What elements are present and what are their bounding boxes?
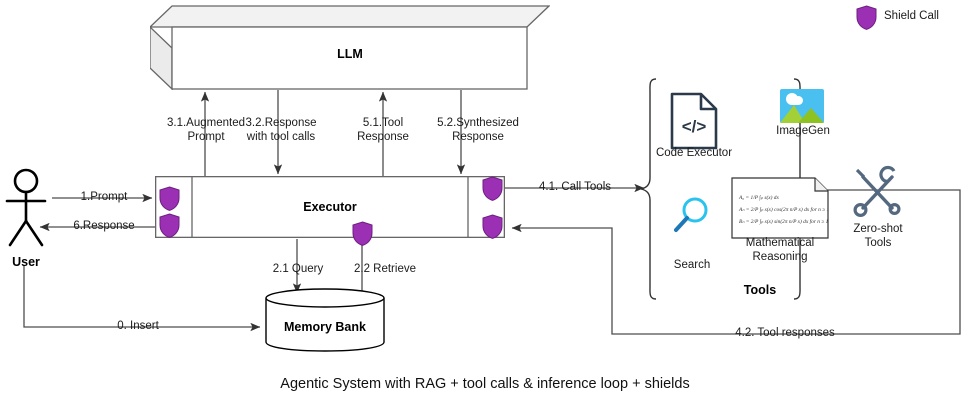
- edge-label-response: 6.Response: [52, 219, 156, 233]
- edge-label-tool-response: 5.1.Tool Response: [337, 116, 429, 144]
- diagram-caption: Agentic System with RAG + tool calls & i…: [0, 376, 970, 392]
- formula-document-icon: A₀ = 1/P ∫ₚ s(x) dx Aₙ = 2/P ∫ₚ s(x) cos…: [731, 177, 829, 244]
- edge-label-tool-responses: 4.2. Tool responses: [660, 326, 910, 340]
- tool-label-zero-shot-tools: Zero-shot Tools: [838, 222, 918, 250]
- legend-shield-label: Shield Call: [884, 10, 939, 22]
- shield-icon: [159, 186, 180, 216]
- tool-label-code-executor: Code Executor: [648, 146, 740, 160]
- shield-icon: [482, 176, 503, 206]
- shield-icon: [159, 213, 180, 243]
- svg-text:Bₙ = 2/P ∫ₚ s(x) sin(2π n/P x): Bₙ = 2/P ∫ₚ s(x) sin(2π n/P x) dx for n …: [739, 218, 829, 225]
- edge-label-call-tools: 4.1. Call Tools: [516, 180, 634, 194]
- llm-label: LLM: [150, 47, 550, 61]
- edge-label-prompt: 1.Prompt: [58, 190, 150, 204]
- magnifier-icon: [672, 196, 710, 241]
- crossed-tools-icon: [850, 165, 904, 224]
- edge-label-synthesized-response: 5.2.Synthesized Response: [420, 116, 536, 144]
- edge-label-insert: 0. Insert: [78, 319, 198, 333]
- shield-icon: [856, 5, 877, 35]
- user-label: User: [0, 255, 52, 269]
- user-actor: [4, 168, 60, 248]
- edge-label-response-tool-calls: 3.2.Response with tool calls: [228, 116, 334, 144]
- memory-bank-label: Memory Bank: [265, 320, 385, 334]
- shield-icon: [482, 214, 503, 244]
- executor-label: Executor: [190, 200, 470, 214]
- image-icon: [780, 89, 824, 128]
- tool-label-math-reasoning: Mathematical Reasoning: [722, 236, 838, 264]
- tools-group-label: Tools: [700, 283, 820, 297]
- edge-label-retrieve: 2.2 Retrieve: [330, 262, 440, 276]
- svg-text:A₀ = 1/P ∫ₚ s(x) dx: A₀ = 1/P ∫ₚ s(x) dx: [738, 194, 779, 201]
- shield-icon: [352, 221, 373, 251]
- svg-text:Aₙ = 2/P ∫ₚ s(x) cos(2π n/P x): Aₙ = 2/P ∫ₚ s(x) cos(2π n/P x) dx for n …: [738, 206, 829, 213]
- diagram-canvas: LLM Executor Memory Bank: [0, 0, 970, 411]
- tool-label-imagegen: ImageGen: [760, 124, 846, 138]
- svg-text:</>: </>: [682, 117, 707, 136]
